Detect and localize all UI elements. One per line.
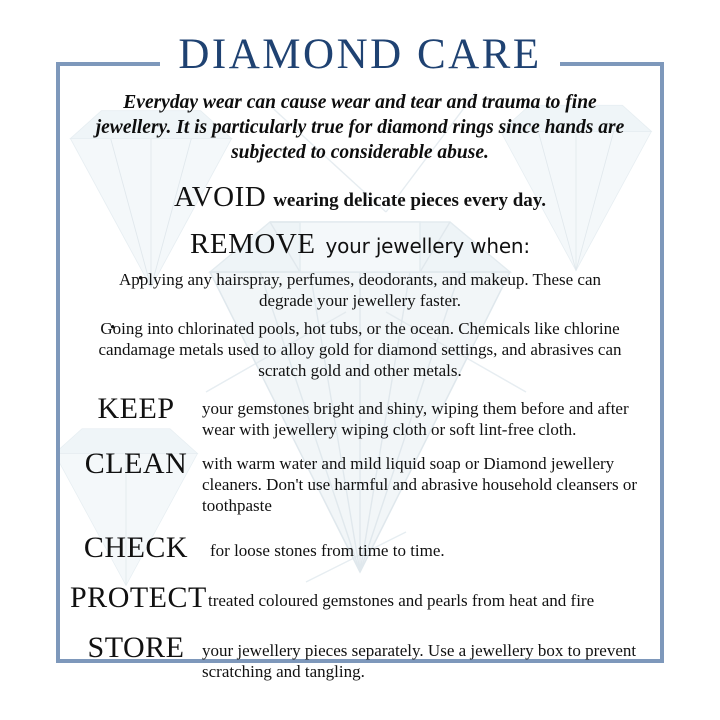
store-keyword: STORE <box>70 632 202 664</box>
intro-paragraph: Everyday wear can cause wear and tear an… <box>84 90 636 165</box>
page-title-text: DIAMOND CARE <box>160 29 559 81</box>
list-item-text: Applying any hairspray, perfumes, deodor… <box>96 269 624 311</box>
remove-text: your jewellery when: <box>326 234 530 258</box>
remove-line: REMOVEyour jewellery when: <box>70 228 650 261</box>
avoid-keyword: AVOID <box>174 181 266 213</box>
bullet-marker-icon: • <box>138 269 143 290</box>
list-item-text: Going into chlorinated pools, hot tubs, … <box>96 318 624 381</box>
clean-keyword: CLEAN <box>70 448 202 480</box>
care-row-store: STORE your jewellery pieces separately. … <box>70 632 650 682</box>
remove-bullet-list: • Applying any hairspray, perfumes, deod… <box>70 269 650 381</box>
clean-text: with warm water and mild liquid soap or … <box>202 448 650 516</box>
diamond-care-poster: DIAMOND CARE Everyday wear can cause wea… <box>0 0 720 720</box>
care-row-keep: KEEP your gemstones bright and shiny, wi… <box>70 393 650 440</box>
list-item: • Going into chlorinated pools, hot tubs… <box>70 318 650 381</box>
keep-keyword: KEEP <box>70 393 202 425</box>
store-text: your jewellery pieces separately. Use a … <box>202 632 650 682</box>
care-row-protect: PROTECT treated coloured gemstones and p… <box>70 582 650 614</box>
page-title: DIAMOND CARE <box>56 29 664 81</box>
check-keyword: CHECK <box>70 532 202 564</box>
bullet-marker-icon: • <box>110 318 115 339</box>
poster-body: Everyday wear can cause wear and tear an… <box>56 90 664 688</box>
check-text: for loose stones from time to time. <box>202 532 650 561</box>
list-item: • Applying any hairspray, perfumes, deod… <box>70 269 650 311</box>
keep-text: your gemstones bright and shiny, wiping … <box>202 393 650 440</box>
remove-keyword: REMOVE <box>190 228 315 260</box>
poster-content: DIAMOND CARE Everyday wear can cause wea… <box>56 62 664 663</box>
avoid-text: wearing delicate pieces every day. <box>273 190 546 211</box>
protect-keyword: PROTECT <box>70 582 202 614</box>
care-row-clean: CLEAN with warm water and mild liquid so… <box>70 448 650 516</box>
protect-text: treated coloured gemstones and pearls fr… <box>202 582 650 611</box>
avoid-line: AVOIDwearing delicate pieces every day. <box>70 181 650 214</box>
care-row-check: CHECK for loose stones from time to time… <box>70 532 650 564</box>
